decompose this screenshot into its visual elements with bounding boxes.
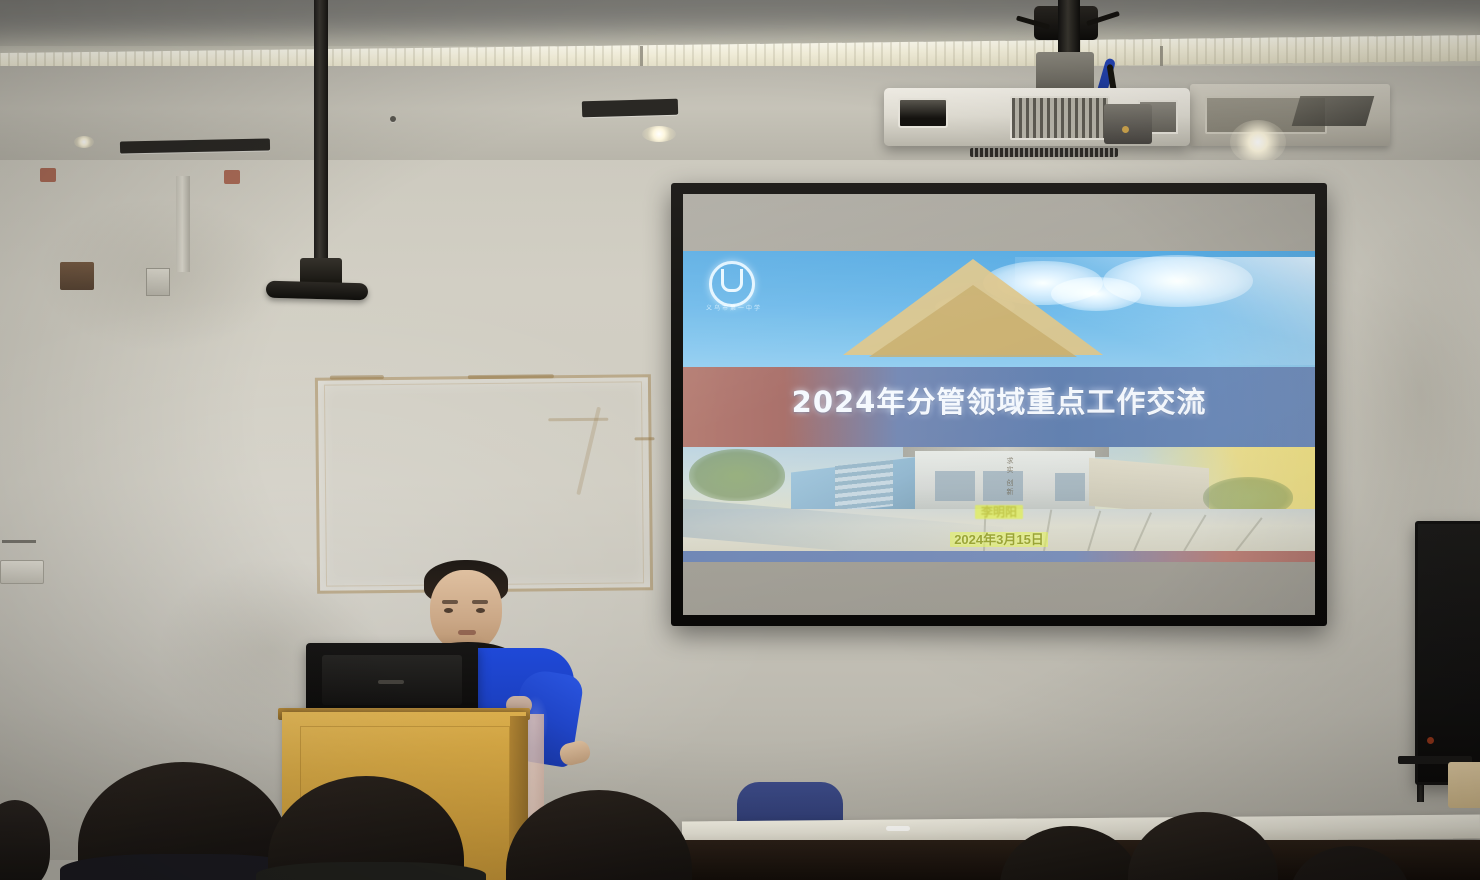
- projector-vent-grille: [1010, 96, 1110, 140]
- slide-campus-photo: 求实 创新 李明阳: [683, 447, 1315, 551]
- wall-pipe: [176, 176, 190, 272]
- presenter-head: [430, 570, 502, 652]
- projector-rear-gear: [1104, 104, 1152, 144]
- wall-display[interactable]: [1415, 521, 1480, 785]
- logo-glyph: [721, 269, 743, 292]
- slide-date-line: 2024年3月15日: [683, 529, 1315, 548]
- display-power-indicator: [1427, 737, 1434, 744]
- presentation-room-photo: 义乌市第一中学 2024年分管领域重点工作交流 求实 创新: [0, 0, 1480, 880]
- slide-bottom-bar: [683, 551, 1315, 562]
- cardboard-box: [1448, 762, 1480, 808]
- projection-screen-frame: 义乌市第一中学 2024年分管领域重点工作交流 求实 创新: [671, 183, 1327, 626]
- school-logo: 义乌市第一中学: [697, 259, 771, 315]
- light-switch[interactable]: [0, 560, 44, 584]
- wall-bracket: [60, 262, 94, 290]
- slide-presenter-line: 李明阳: [683, 503, 1315, 520]
- slide-sky-band: 义乌市第一中学: [683, 251, 1315, 371]
- wall-marker-tag: [40, 168, 56, 182]
- switch-conduit: [2, 540, 36, 543]
- ceiling-pole: [314, 0, 328, 268]
- wall-outlet[interactable]: [146, 268, 170, 296]
- slide-title: 2024年分管领域重点工作交流: [683, 379, 1315, 421]
- ac-light-glare: [1230, 120, 1286, 164]
- projector-lens: [898, 98, 948, 128]
- building-roof-inner: [869, 285, 1077, 357]
- projector-indicator: [1122, 126, 1129, 133]
- ceiling-speaker: [266, 281, 368, 301]
- logo-caption: 义乌市第一中学: [697, 303, 771, 312]
- projection-screen-surface: 义乌市第一中学 2024年分管领域重点工作交流 求实 创新: [683, 194, 1315, 615]
- cloud: [1103, 255, 1253, 307]
- wall-stain: [1340, 220, 1480, 560]
- building-window: [935, 471, 975, 501]
- audience-shoulders: [256, 862, 486, 880]
- ceiling: [0, 0, 1480, 172]
- building-window: [983, 471, 1023, 501]
- building-wall-characters: 求实 创新: [1005, 457, 1014, 497]
- tree: [689, 449, 785, 501]
- ac-air-vane: [1292, 96, 1375, 126]
- wall-marker-tag: [224, 170, 240, 184]
- ceiling-downlight: [74, 136, 94, 148]
- ceiling-downlight: [642, 126, 676, 142]
- desk-highlight: [886, 826, 910, 831]
- building-window: [1055, 473, 1085, 501]
- presenter-mouth: [458, 630, 476, 635]
- monitor-brand-mark: [378, 680, 404, 684]
- ceiling-vent-slot: [582, 99, 678, 118]
- ceiling-screw: [390, 116, 396, 122]
- projected-slide: 义乌市第一中学 2024年分管领域重点工作交流 求实 创新: [683, 251, 1315, 562]
- projector-bottom-slot: [970, 148, 1118, 157]
